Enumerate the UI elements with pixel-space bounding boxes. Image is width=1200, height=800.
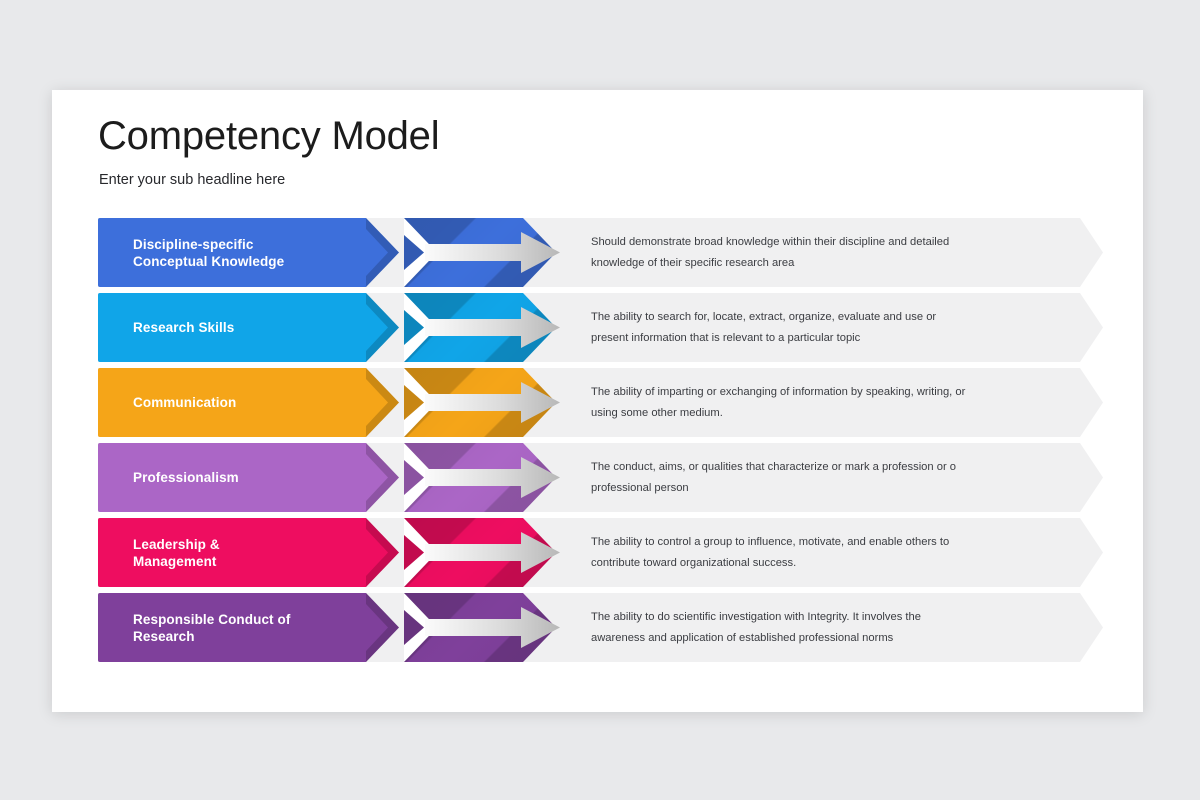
competency-label: Communication — [133, 368, 358, 437]
competency-row[interactable]: Responsible Conduct ofResearchThe abilit… — [98, 593, 1108, 662]
competency-label-line1: Discipline-specific — [133, 236, 358, 253]
competency-row-list: Discipline-specificConceptual KnowledgeS… — [98, 218, 1108, 668]
competency-description-line1: Should demonstrate broad knowledge withi… — [591, 232, 1011, 253]
competency-description-line1: The ability to search for, locate, extra… — [591, 307, 1011, 328]
slide-stage: Competency Model Enter your sub headline… — [0, 0, 1200, 800]
competency-row[interactable]: Leadership &ManagementThe ability to con… — [98, 518, 1108, 587]
competency-description: Should demonstrate broad knowledge withi… — [591, 218, 1011, 287]
competency-description-line2: professional person — [591, 478, 1011, 499]
competency-row[interactable]: ProfessionalismThe conduct, aims, or qua… — [98, 443, 1108, 512]
competency-label-line1: Responsible Conduct of — [133, 611, 358, 628]
slide-card: Competency Model Enter your sub headline… — [52, 90, 1143, 712]
right-arrow-icon — [425, 532, 560, 573]
right-arrow-icon — [425, 607, 560, 648]
competency-label: Responsible Conduct ofResearch — [133, 593, 358, 662]
right-arrow-icon — [425, 307, 560, 348]
right-arrow-icon — [425, 232, 560, 273]
competency-label-line1: Leadership & — [133, 536, 358, 553]
competency-label-line1: Research Skills — [133, 319, 358, 336]
competency-description: The ability to search for, locate, extra… — [591, 293, 1011, 362]
competency-description-line1: The conduct, aims, or qualities that cha… — [591, 457, 1011, 478]
page-title: Competency Model — [98, 114, 439, 159]
competency-label-line1: Professionalism — [133, 469, 358, 486]
competency-label-line2: Research — [133, 628, 358, 645]
competency-description-line2: present information that is relevant to … — [591, 328, 1011, 349]
competency-description-line2: contribute toward organizational success… — [591, 553, 1011, 574]
competency-description-line1: The ability to control a group to influe… — [591, 532, 1011, 553]
right-arrow-icon — [425, 382, 560, 423]
competency-description-line1: The ability to do scientific investigati… — [591, 607, 1011, 628]
competency-description-line2: awareness and application of established… — [591, 628, 1011, 649]
competency-row[interactable]: Discipline-specificConceptual KnowledgeS… — [98, 218, 1108, 287]
competency-label-line2: Conceptual Knowledge — [133, 253, 358, 270]
competency-row[interactable]: CommunicationThe ability of imparting or… — [98, 368, 1108, 437]
competency-description: The conduct, aims, or qualities that cha… — [591, 443, 1011, 512]
competency-description: The ability to control a group to influe… — [591, 518, 1011, 587]
competency-label-line1: Communication — [133, 394, 358, 411]
competency-label: Discipline-specificConceptual Knowledge — [133, 218, 358, 287]
competency-description-line2: knowledge of their specific research are… — [591, 253, 1011, 274]
competency-label: Research Skills — [133, 293, 358, 362]
page-subtitle: Enter your sub headline here — [99, 172, 285, 188]
competency-label: Leadership &Management — [133, 518, 358, 587]
competency-label-line2: Management — [133, 553, 358, 570]
right-arrow-icon — [425, 457, 560, 498]
competency-row[interactable]: Research SkillsThe ability to search for… — [98, 293, 1108, 362]
competency-label: Professionalism — [133, 443, 358, 512]
competency-description-line1: The ability of imparting or exchanging o… — [591, 382, 1011, 403]
competency-description: The ability of imparting or exchanging o… — [591, 368, 1011, 437]
competency-description-line2: using some other medium. — [591, 403, 1011, 424]
competency-description: The ability to do scientific investigati… — [591, 593, 1011, 662]
